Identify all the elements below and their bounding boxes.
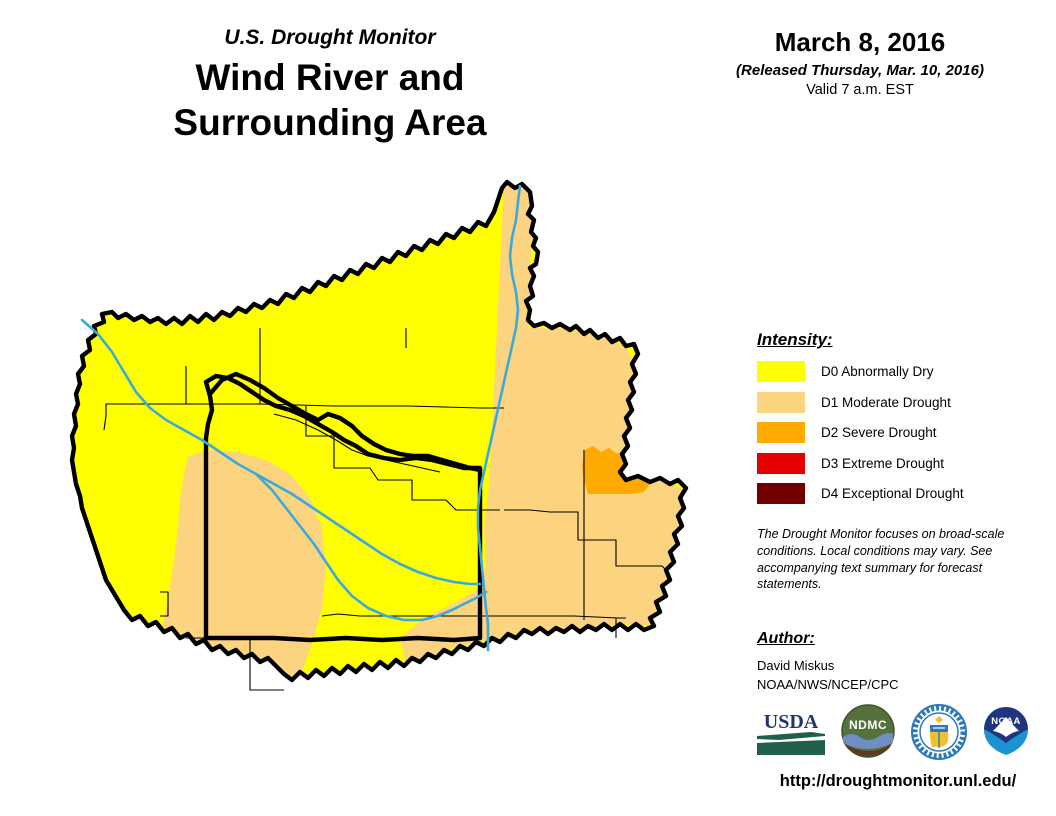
svg-text:NOAA: NOAA bbox=[991, 716, 1021, 727]
title-block: U.S. Drought Monitor Wind River and Surr… bbox=[0, 26, 660, 145]
author-block: Author: David Miskus NOAA/NWS/NCEP/CPC bbox=[757, 630, 1037, 695]
disclaimer-text: The Drought Monitor focuses on broad-sca… bbox=[757, 526, 1019, 593]
legend-item-d0: D0 Abnormally Dry bbox=[757, 361, 1047, 382]
usda-logo: USDA bbox=[755, 707, 827, 757]
legend-label-d0: D0 Abnormally Dry bbox=[821, 364, 934, 379]
legend-swatch-d1 bbox=[757, 392, 805, 413]
program-label: U.S. Drought Monitor bbox=[0, 26, 660, 49]
logo-row: USDA NDMC bbox=[755, 703, 1045, 761]
page-title-line2: Surrounding Area bbox=[0, 100, 660, 145]
legend-swatch-d2 bbox=[757, 422, 805, 443]
ndmc-logo: NDMC bbox=[840, 703, 896, 759]
legend-swatch-d3 bbox=[757, 453, 805, 474]
legend-label-d4: D4 Exceptional Drought bbox=[821, 486, 964, 501]
valid-time: Valid 7 a.m. EST bbox=[672, 82, 1048, 98]
legend-item-d4: D4 Exceptional Drought bbox=[757, 483, 1047, 504]
author-affiliation: NOAA/NWS/NCEP/CPC bbox=[757, 676, 1037, 695]
legend-item-d2: D2 Severe Drought bbox=[757, 422, 1047, 443]
page-title: Wind River and Surrounding Area bbox=[0, 55, 660, 145]
intensity-legend: Intensity: D0 Abnormally Dry D1 Moderate… bbox=[757, 330, 1047, 514]
author-name: David Miskus bbox=[757, 657, 1037, 676]
release-date: (Released Thursday, Mar. 10, 2016) bbox=[672, 62, 1048, 79]
map-fill-layer bbox=[60, 168, 720, 816]
author-title: Author: bbox=[757, 630, 1037, 648]
legend-label-d2: D2 Severe Drought bbox=[821, 425, 937, 440]
legend-label-d3: D3 Extreme Drought bbox=[821, 456, 944, 471]
noaa-logo: NOAA bbox=[977, 703, 1035, 759]
svg-text:USDA: USDA bbox=[764, 711, 819, 733]
legend-label-d1: D1 Moderate Drought bbox=[821, 395, 951, 410]
page-title-line1: Wind River and bbox=[0, 55, 660, 100]
legend-title: Intensity: bbox=[757, 330, 1047, 350]
map-date: March 8, 2016 bbox=[672, 28, 1048, 58]
legend-item-d1: D1 Moderate Drought bbox=[757, 392, 1047, 413]
drought-area-d1-southwest bbox=[160, 450, 326, 764]
legend-swatch-d0 bbox=[757, 361, 805, 382]
unl-seal-logo bbox=[910, 703, 968, 761]
drought-monitor-url[interactable]: http://droughtmonitor.unl.edu/ bbox=[748, 772, 1048, 791]
legend-swatch-d4 bbox=[757, 483, 805, 504]
date-block: March 8, 2016 (Released Thursday, Mar. 1… bbox=[672, 28, 1048, 98]
drought-map bbox=[60, 168, 720, 816]
svg-text:NDMC: NDMC bbox=[849, 718, 887, 732]
legend-item-d3: D3 Extreme Drought bbox=[757, 453, 1047, 474]
